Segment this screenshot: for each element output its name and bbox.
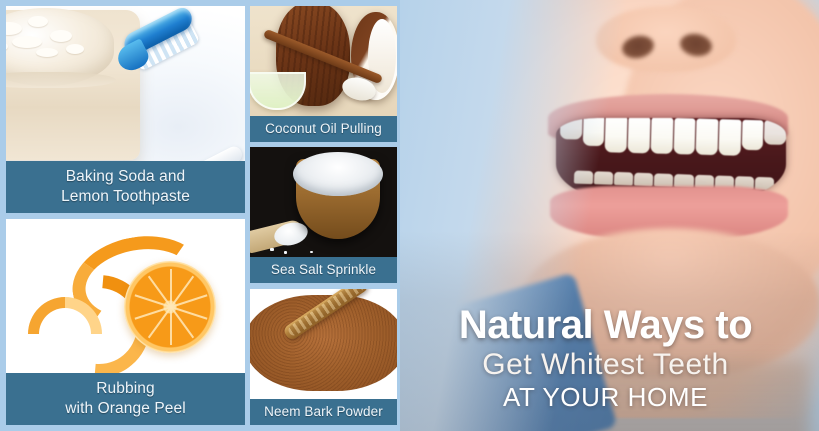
caption-sea-salt: Sea Salt Sprinkle: [250, 257, 397, 283]
hero-title-block: Natural Ways to Get Whitest Teeth AT YOU…: [400, 305, 819, 413]
baking-soda-image: [6, 6, 245, 161]
title-line-2: Get Whitest Teeth: [400, 347, 811, 382]
remedy-card-grid: Baking Soda and Lemon Toothpaste: [0, 0, 400, 431]
caption-line-2: Lemon Toothpaste: [61, 187, 190, 207]
sea-salt-image: [250, 147, 397, 257]
remedy-card-neem-bark[interactable]: Neem Bark Powder: [250, 289, 397, 425]
caption-coconut-oil: Coconut Oil Pulling: [250, 116, 397, 142]
remedy-card-sea-salt[interactable]: Sea Salt Sprinkle: [250, 147, 397, 283]
caption-line-2: with Orange Peel: [65, 399, 186, 419]
caption-line-1: Sea Salt Sprinkle: [271, 261, 376, 278]
caption-baking-soda: Baking Soda and Lemon Toothpaste: [6, 161, 245, 213]
neem-bark-image: [250, 289, 397, 399]
remedy-card-baking-soda[interactable]: Baking Soda and Lemon Toothpaste: [6, 6, 245, 213]
title-line-3: AT YOUR HOME: [400, 383, 811, 413]
remedy-card-orange-peel[interactable]: Rubbing with Orange Peel: [6, 219, 245, 425]
orange-peel-image: [6, 219, 245, 373]
infographic-banner: Baking Soda and Lemon Toothpaste: [0, 0, 819, 431]
title-line-1: Natural Ways to: [400, 305, 811, 346]
caption-line-1: Rubbing: [65, 379, 186, 399]
caption-neem-bark: Neem Bark Powder: [250, 399, 397, 425]
hero-photo-smiling-woman: Natural Ways to Get Whitest Teeth AT YOU…: [400, 0, 819, 431]
coconut-oil-image: [250, 6, 397, 116]
remedy-card-coconut-oil[interactable]: Coconut Oil Pulling: [250, 6, 397, 142]
caption-line-1: Neem Bark Powder: [264, 403, 383, 420]
caption-orange-peel: Rubbing with Orange Peel: [6, 373, 245, 425]
caption-line-1: Coconut Oil Pulling: [265, 120, 382, 137]
caption-line-1: Baking Soda and: [61, 167, 190, 187]
